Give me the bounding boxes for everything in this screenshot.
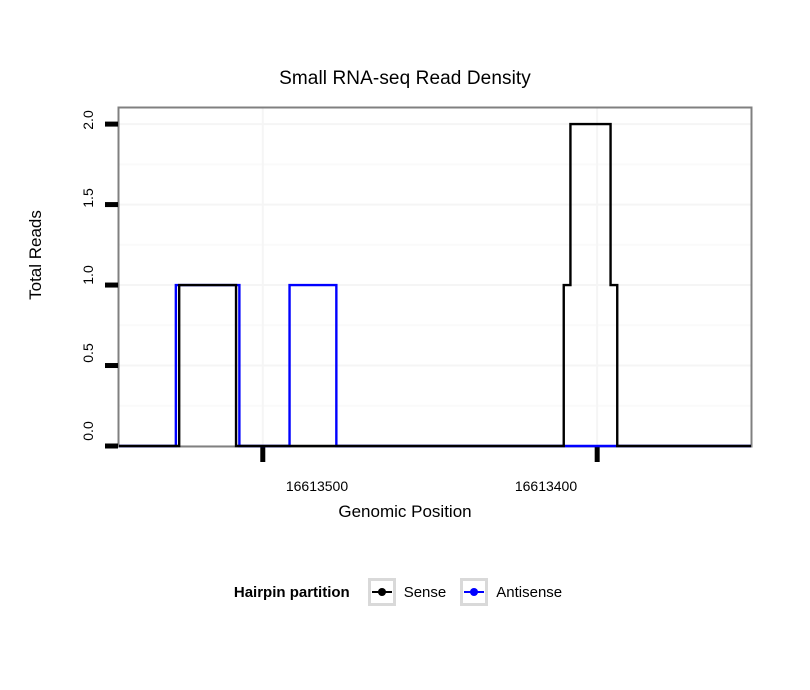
panel-background: [118, 107, 752, 447]
legend-label-antisense: Antisense: [496, 584, 562, 601]
legend-key-sense: [368, 578, 396, 606]
legend-label-sense: Sense: [404, 584, 447, 601]
legend-key-antisense: [460, 578, 488, 606]
chart-container: Small RNA-seq Read Density Total Reads G…: [0, 0, 810, 690]
legend: Hairpin partition Sense Antisense: [0, 578, 810, 606]
legend-entry-sense[interactable]: Sense: [368, 578, 447, 606]
line-point-icon: [371, 581, 393, 603]
legend-entry-antisense[interactable]: Antisense: [460, 578, 562, 606]
line-point-icon: [463, 581, 485, 603]
legend-title: Hairpin partition: [234, 584, 350, 601]
